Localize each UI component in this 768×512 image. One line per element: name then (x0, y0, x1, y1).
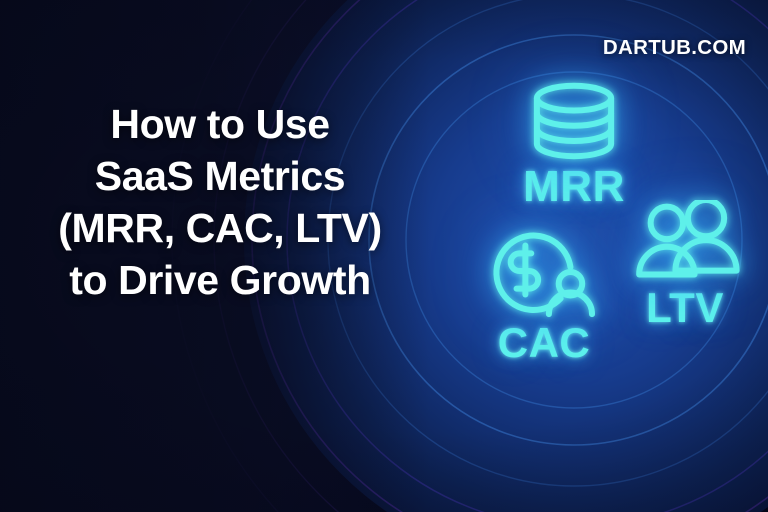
metric-node-ltv: LTV (610, 200, 760, 330)
poster-canvas: DARTUB.COM How to Use SaaS Metrics (MRR,… (0, 0, 768, 512)
dollar-circle-person-icon (485, 222, 603, 320)
title-line-2: SaaS Metrics (20, 150, 420, 202)
metric-node-mrr: MRR (452, 82, 696, 210)
title-line-3: (MRR, CAC, LTV) (20, 202, 420, 254)
title-line-4: to Drive Growth (20, 254, 420, 306)
title-line-1: How to Use (20, 98, 420, 150)
page-title: How to Use SaaS Metrics (MRR, CAC, LTV) … (20, 98, 420, 306)
two-people-icon (629, 200, 741, 284)
brand-wordmark: DARTUB.COM (603, 36, 746, 60)
database-icon (528, 82, 620, 160)
metric-label-ltv: LTV (610, 286, 760, 330)
